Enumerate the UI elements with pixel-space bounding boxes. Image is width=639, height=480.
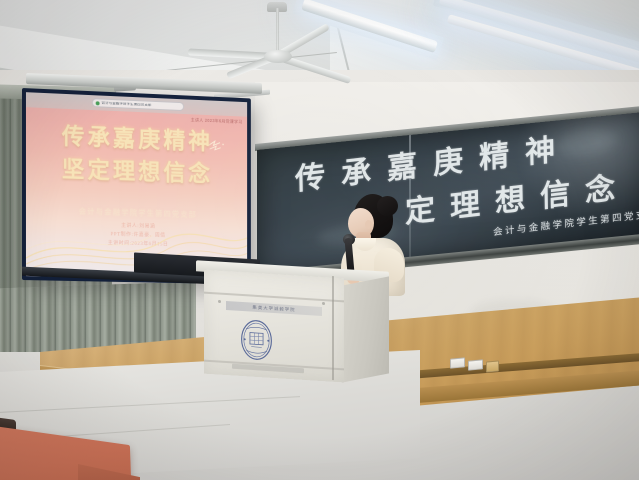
ceiling-fan-hub xyxy=(264,50,292,63)
podium: 集美大学诚毅学院 xyxy=(196,266,389,386)
slide-url-pill: 会计与金融学院学生第四党支部 xyxy=(92,98,184,111)
slide-url-text: 会计与金融学院学生第四党支部 xyxy=(102,101,152,107)
speaker-hair-bun xyxy=(377,196,398,216)
podium-side-panel xyxy=(342,276,389,382)
slide-title-line2: 坚定理想信念 xyxy=(26,154,247,190)
university-seal-icon xyxy=(239,317,274,363)
classroom-photo: 会计与金融学院学生第四党支部 主讲人 2023年6月党课学习 传承嘉庚精神 坚定… xyxy=(0,0,639,480)
slide-title-line1: 传承嘉庚精神 xyxy=(26,122,247,156)
slide-title: 传承嘉庚精神 坚定理想信念 xyxy=(26,122,247,190)
speaker-ear xyxy=(365,220,372,229)
slide-corner-label: 主讲人 2023年6月党课学习 xyxy=(191,117,243,125)
wall-power-outlet[interactable] xyxy=(468,359,483,370)
podium-screw xyxy=(322,302,325,305)
secure-lock-icon xyxy=(96,101,100,105)
wall-power-outlet-tan[interactable] xyxy=(486,360,499,372)
ceiling-fan-rod xyxy=(276,8,279,54)
podium-screw xyxy=(218,300,221,303)
wall-power-outlet[interactable] xyxy=(450,357,465,368)
podium-edge-seam xyxy=(332,276,334,380)
